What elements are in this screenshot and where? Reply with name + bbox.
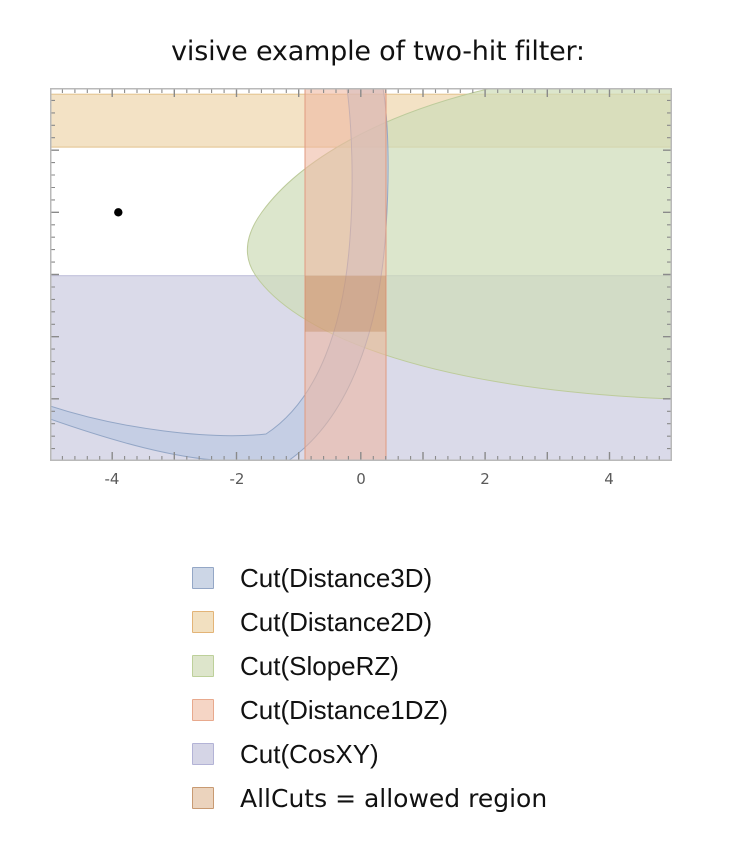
x-tick-label-0: 0 bbox=[356, 470, 366, 488]
legend-label-cut-distance1dz: Cut(Distance1DZ) bbox=[240, 697, 448, 723]
chart-page: visive example of two-hit filter: bbox=[0, 0, 756, 864]
x-tick-label-2: 2 bbox=[480, 470, 490, 488]
region-allcuts bbox=[305, 276, 386, 332]
page-title: visive example of two-hit filter: bbox=[0, 36, 756, 67]
chart-legend: Cut(Distance3D) Cut(Distance2D) Cut(Slop… bbox=[192, 556, 652, 820]
x-tick-label-4: 4 bbox=[604, 470, 614, 488]
legend-item-cut-distance3d[interactable]: Cut(Distance3D) bbox=[192, 556, 652, 600]
legend-swatch-cut-cosxy bbox=[192, 743, 214, 765]
plot-area: 3 2 1 0 -1 -2 -3 -4 -2 0 2 4 bbox=[50, 88, 672, 461]
legend-item-cut-cosxy[interactable]: Cut(CosXY) bbox=[192, 732, 652, 776]
plot-canvas bbox=[50, 88, 672, 461]
legend-item-cut-sloperz[interactable]: Cut(SlopeRZ) bbox=[192, 644, 652, 688]
legend-label-cut-cosxy: Cut(CosXY) bbox=[240, 741, 379, 767]
legend-swatch-cut-distance3d bbox=[192, 567, 214, 589]
legend-item-cut-distance2d[interactable]: Cut(Distance2D) bbox=[192, 600, 652, 644]
legend-swatch-cut-sloperz bbox=[192, 655, 214, 677]
legend-label-cut-distance2d: Cut(Distance2D) bbox=[240, 609, 432, 635]
region-cut-distance1dz bbox=[305, 88, 386, 461]
data-point-hit bbox=[114, 208, 122, 216]
legend-swatch-allcuts bbox=[192, 787, 214, 809]
legend-item-allcuts[interactable]: AllCuts = allowed region bbox=[192, 776, 652, 820]
legend-label-allcuts: AllCuts = allowed region bbox=[240, 786, 547, 811]
legend-item-cut-distance1dz[interactable]: Cut(Distance1DZ) bbox=[192, 688, 652, 732]
legend-label-cut-distance3d: Cut(Distance3D) bbox=[240, 565, 432, 591]
x-tick-label-m2: -2 bbox=[230, 470, 245, 488]
legend-label-cut-sloperz: Cut(SlopeRZ) bbox=[240, 653, 399, 679]
x-tick-label-m4: -4 bbox=[105, 470, 120, 488]
legend-swatch-cut-distance2d bbox=[192, 611, 214, 633]
legend-swatch-cut-distance1dz bbox=[192, 699, 214, 721]
